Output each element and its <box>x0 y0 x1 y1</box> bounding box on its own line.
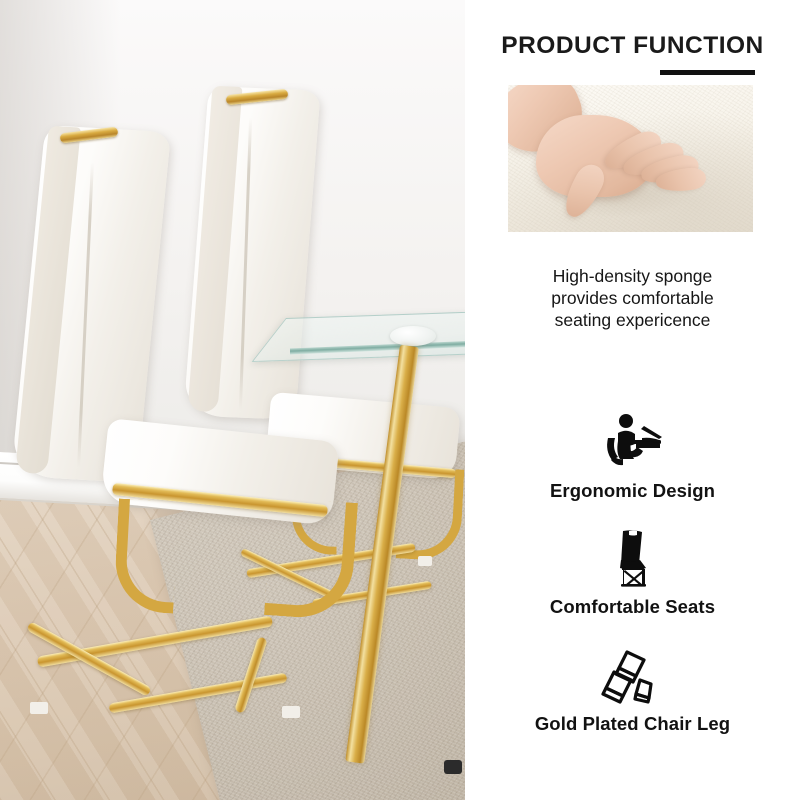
hand-pressing-foam-photo <box>508 85 753 232</box>
sponge-caption-line-1: High-density sponge <box>465 265 800 287</box>
product-photo-panel <box>0 0 465 800</box>
feature-label-gold-plated-chair-leg: Gold Plated Chair Leg <box>465 713 800 735</box>
sponge-caption-line-2: provides comfortable <box>465 287 800 309</box>
glass-table-foot-cap <box>444 760 462 774</box>
info-panel: PRODUCT FUNCTION High-density sponge <box>465 0 800 800</box>
chair-back-foot-cap <box>418 556 432 566</box>
title-underline-rule <box>660 70 755 75</box>
feature-label-ergonomic-design: Ergonomic Design <box>465 480 800 502</box>
feature-comfortable-seats: Comfortable Seats <box>465 528 800 618</box>
sponge-photo-container <box>465 85 800 255</box>
chair-front-foot-cap-right <box>282 706 300 718</box>
sponge-caption: High-density sponge provides comfortable… <box>465 265 800 331</box>
feature-label-comfortable-seats: Comfortable Seats <box>465 596 800 618</box>
feature-ergonomic-design: Ergonomic Design <box>465 412 800 502</box>
sponge-caption-line-3: seating expericence <box>465 309 800 331</box>
product-function-infographic: PRODUCT FUNCTION High-density sponge <box>0 0 800 800</box>
page-title: PRODUCT FUNCTION <box>465 32 800 60</box>
gold-bars-icon <box>465 645 800 707</box>
cantilever-chair-icon <box>465 528 800 590</box>
person-sitting-at-desk-icon <box>465 412 800 474</box>
glass-table-leg-disc <box>390 326 436 346</box>
chair-front-foot-cap-left <box>30 702 48 714</box>
feature-gold-plated-chair-leg: Gold Plated Chair Leg <box>465 645 800 735</box>
